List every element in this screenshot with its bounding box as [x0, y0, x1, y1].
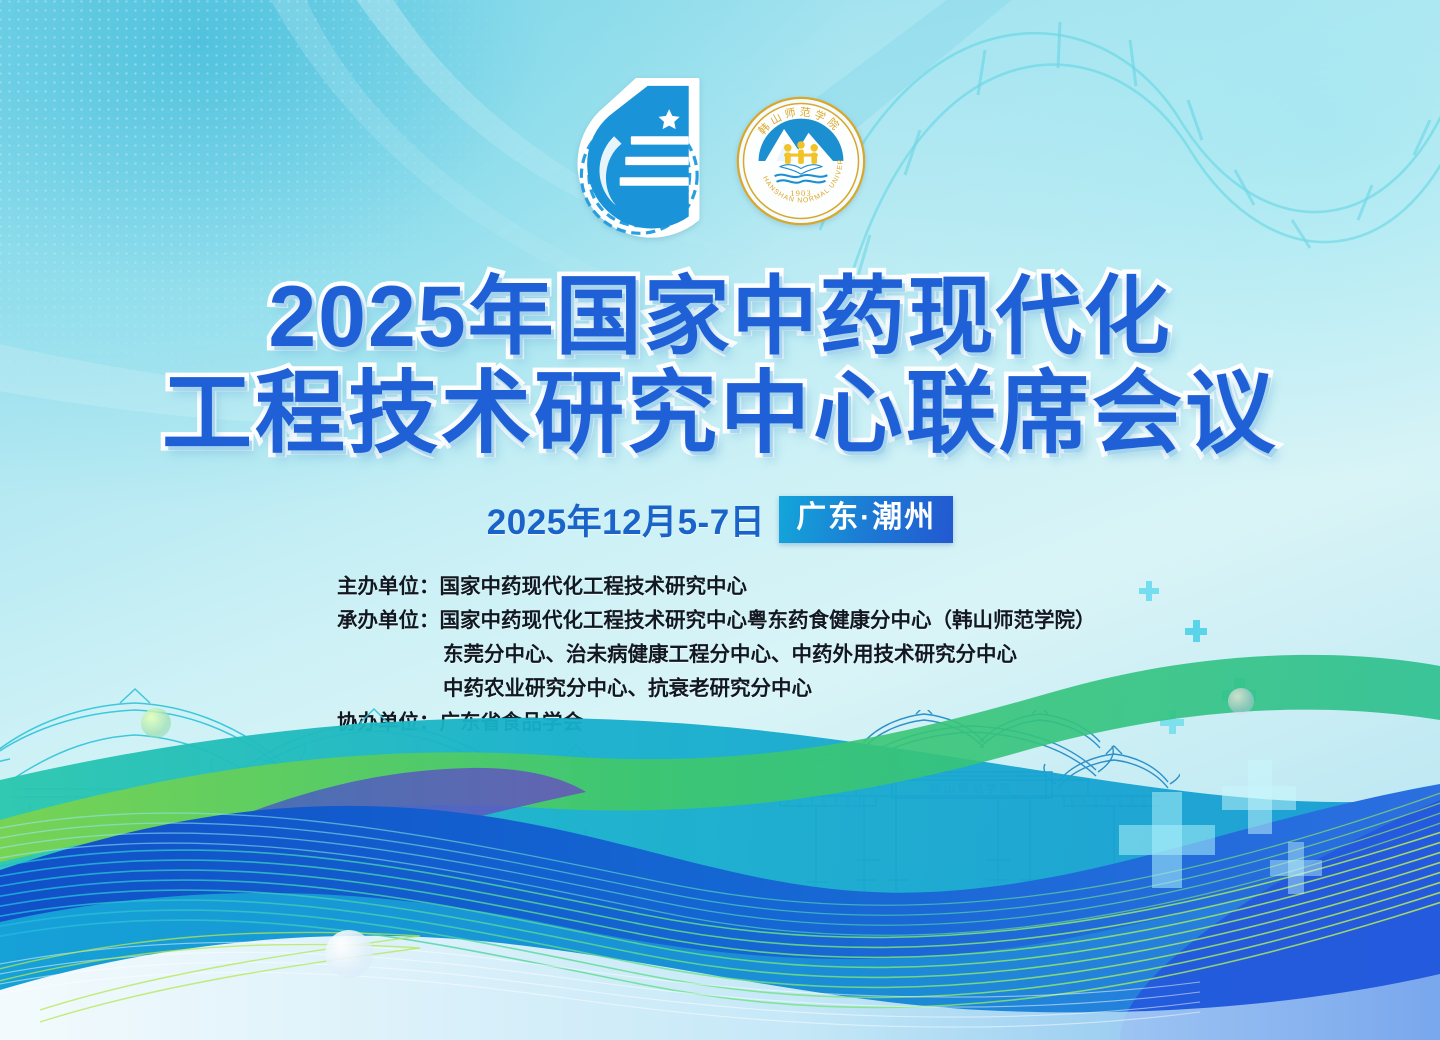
organizer-line: 协办单位：广东省食品学会: [337, 706, 1167, 740]
date-location-row: 2025年12月5-7日 广东·潮州: [0, 494, 1440, 545]
university-seal-icon: 1903 韩山师范学院 HANSHAN NORMAL UNIVERSITY: [735, 95, 867, 227]
medical-cross-icon: [1222, 760, 1296, 834]
title-line-2: 工程技术研究中心联席会议: [0, 367, 1440, 462]
city-badge: 广东·潮州: [779, 496, 953, 542]
medical-cross-icon: [1270, 842, 1322, 894]
medical-cross-icon: [1119, 792, 1215, 888]
archway-line-art: 韩山师范学院: [760, 710, 1180, 920]
organizer-block: 主办单位：国家中药现代化工程技术研究中心 承办单位：国家中药现代化工程技术研究中…: [337, 570, 1167, 740]
organizer-line: 中药农业研究分中心、抗衰老研究分中心: [337, 672, 1167, 706]
archway-plaque-text: 韩山师范学院: [930, 781, 1014, 795]
poster-title: 2025年国家中药现代化 工程技术研究中心联席会议: [0, 272, 1440, 463]
title-line-1: 2025年国家中药现代化: [0, 272, 1440, 363]
conference-date: 2025年12月5-7日: [487, 494, 765, 545]
organizer-line: 主办单位：国家中药现代化工程技术研究中心: [337, 570, 1167, 604]
decorative-bubble: [325, 930, 373, 978]
medical-cross-icon: [1185, 620, 1207, 642]
seal-year: 1903: [790, 187, 811, 197]
center-emblem-icon: [573, 78, 713, 243]
logo-row: 1903 韩山师范学院 HANSHAN NORMAL UNIVERSITY: [0, 78, 1440, 243]
conference-poster: 1903 韩山师范学院 HANSHAN NORMAL UNIVERSITY 20…: [0, 0, 1440, 1040]
organizer-line: 东莞分中心、治未病健康工程分中心、中药外用技术研究分中心: [337, 638, 1167, 672]
medical-cross-icon: [1222, 678, 1256, 712]
decorative-bubble: [141, 708, 171, 738]
decorative-bubble: [1228, 688, 1254, 714]
organizer-line: 承办单位：国家中药现代化工程技术研究中心粤东药食健康分中心（韩山师范学院）: [337, 604, 1167, 638]
